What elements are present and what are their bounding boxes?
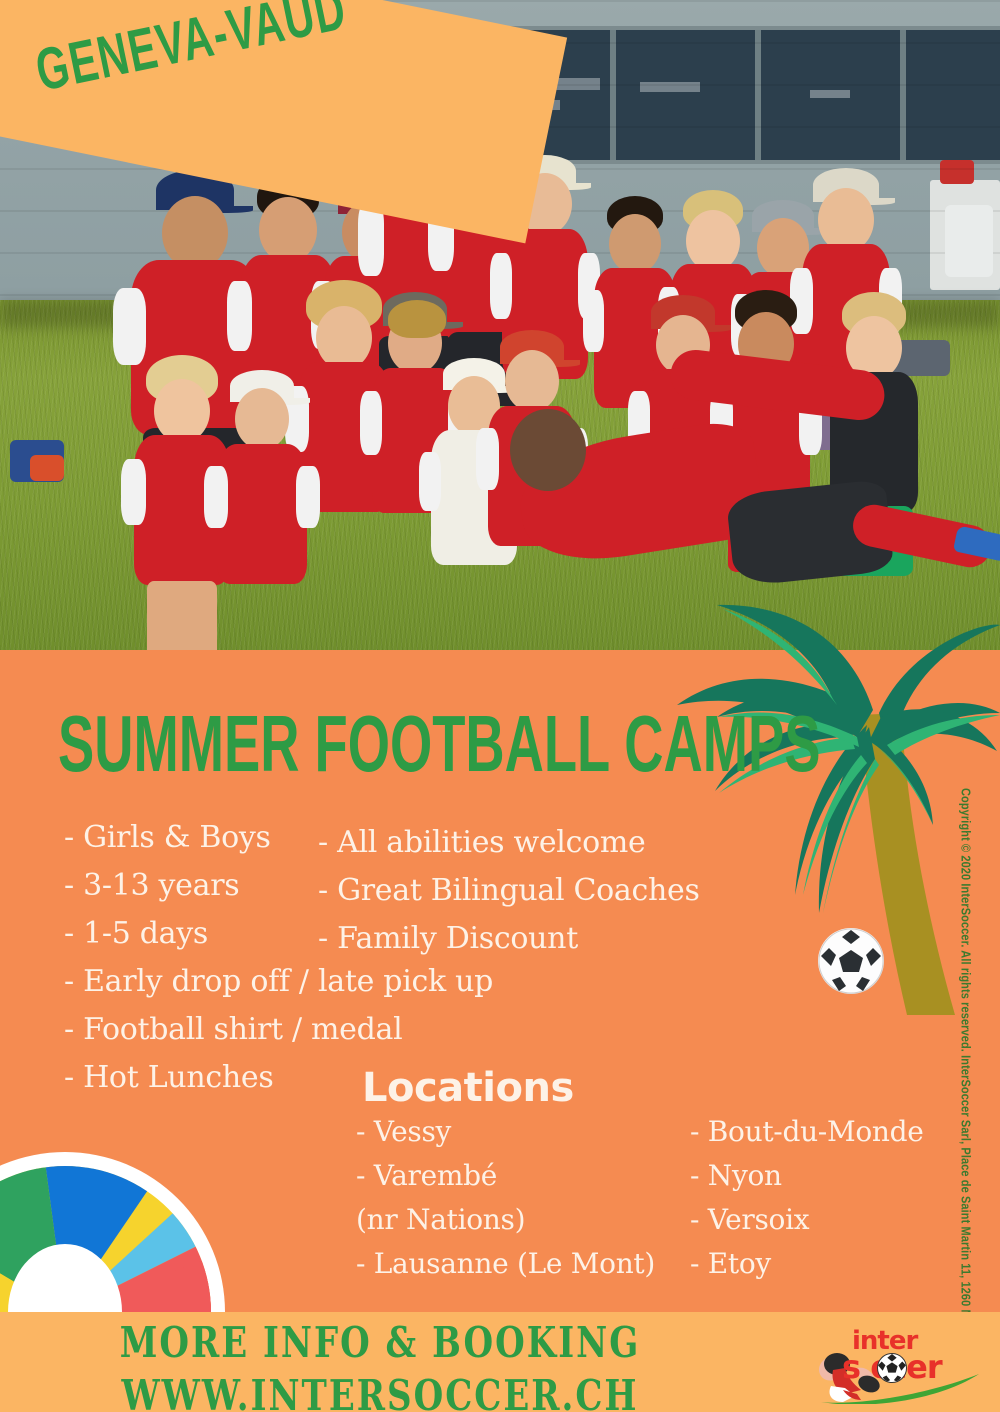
prop-bag: [945, 205, 993, 277]
list-item: - Football shirt / medal: [64, 1012, 493, 1047]
list-item: - Bout-du-Monde: [690, 1115, 924, 1148]
list-item: - Great Bilingual Coaches: [318, 873, 700, 908]
photo-coach-lying: [500, 395, 970, 610]
list-item: - Nyon: [690, 1159, 924, 1192]
copyright-notice: Copyright © 2020 InterSoccer. All rights…: [958, 788, 972, 1218]
list-item: - All abilities welcome: [318, 825, 700, 860]
poster-root: GENEVA-VAUD SUMM: [0, 0, 1000, 1412]
logo-swoosh-icon: [819, 1372, 984, 1404]
soccer-ball-icon: [818, 928, 884, 994]
locations-heading: Locations: [362, 1065, 574, 1111]
list-item: - Varembé: [356, 1159, 655, 1192]
cta-line-1: MORE INFO & BOOKING: [0, 1318, 760, 1368]
locations-right-list: - Bout-du-Monde - Nyon - Versoix - Etoy: [690, 1115, 924, 1291]
features-right-list: - All abilities welcome - Great Bilingua…: [318, 825, 700, 969]
photo-person: [214, 370, 310, 610]
page-title: SUMMER FOOTBALL CAMPS: [58, 697, 820, 789]
list-item: - Lausanne (Le Mont): [356, 1247, 655, 1280]
list-item: (nr Nations): [356, 1203, 655, 1236]
list-item: - Early drop off / late pick up: [64, 964, 493, 999]
cta-block[interactable]: MORE INFO & BOOKING WWW.INTERSOCCER.CH: [0, 1318, 760, 1411]
intersoccer-logo[interactable]: inter s ccer: [815, 1322, 990, 1406]
list-item: - Family Discount: [318, 921, 700, 956]
locations-left-list: - Vessy - Varembé (nr Nations) - Lausann…: [356, 1115, 655, 1291]
list-item: - Vessy: [356, 1115, 655, 1148]
prop-bag: [30, 455, 64, 481]
list-item: - Versoix: [690, 1203, 924, 1236]
cta-website-link[interactable]: WWW.INTERSOCCER.CH: [0, 1371, 760, 1412]
list-item: - Etoy: [690, 1247, 924, 1280]
